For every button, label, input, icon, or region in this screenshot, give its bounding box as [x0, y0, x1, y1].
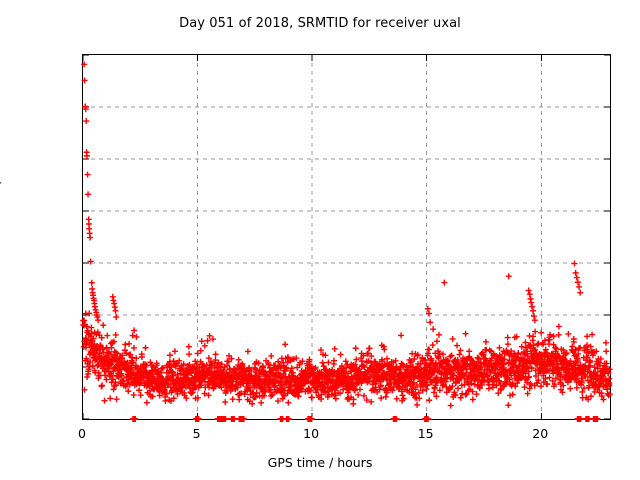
x-tick-label: 15	[406, 426, 446, 441]
x-tick-label: 0	[62, 426, 102, 441]
plot-area	[82, 54, 611, 420]
chart-page: Day 051 of 2018, SRMTID for receiver uxa…	[0, 0, 640, 480]
x-tick-label: 20	[520, 426, 560, 441]
x-tick-label: 5	[177, 426, 217, 441]
x-tick-label: 10	[291, 426, 331, 441]
x-axis-title: GPS time / hours	[0, 455, 640, 470]
y-axis-title: SRMTID / TECUs	[0, 136, 3, 236]
chart-title: Day 051 of 2018, SRMTID for receiver uxa…	[0, 16, 640, 31]
scatter-points	[83, 55, 610, 419]
